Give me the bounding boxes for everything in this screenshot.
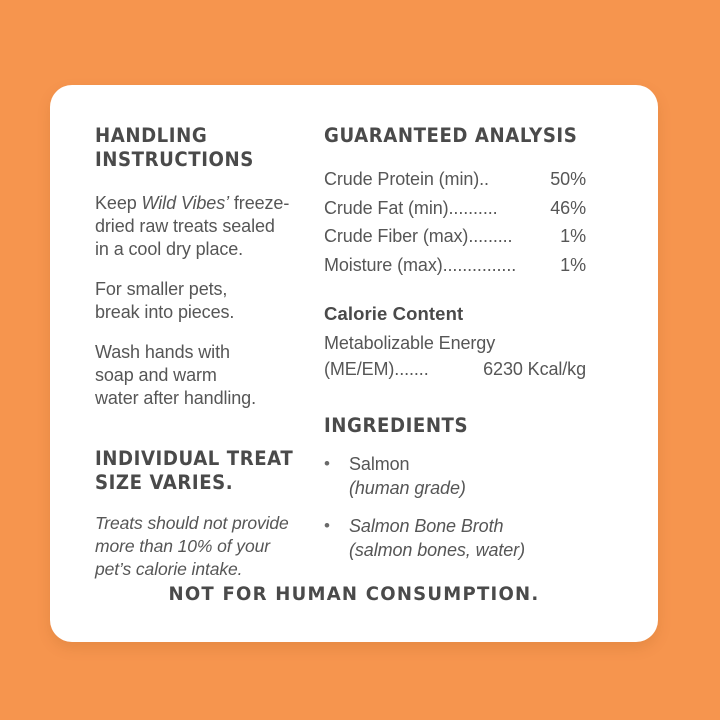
ingredient-name: Salmon [349,454,409,474]
bullet-icon: • [324,514,349,562]
analysis-label: Crude Fat (min) [324,194,449,223]
treat-size-note: Treats should not provide more than 10% … [95,512,318,581]
handling-paragraph-storage: Keep Wild Vibes’ freeze- dried raw treat… [95,192,318,261]
right-column: GUARANTEED ANALYSIS Crude Protein (min) … [318,124,658,581]
not-for-human-consumption-warning: NOT FOR HUMAN CONSUMPTION. [65,583,643,605]
dot-leader: .......... [449,194,551,223]
left-column: HANDLING INSTRUCTIONS Keep Wild Vibes’ f… [50,124,318,581]
analysis-row: Crude Fat (min) .......... 46% [324,194,586,223]
analysis-label: Moisture (max) [324,251,443,280]
ingredient-text: Salmon Bone Broth(salmon bones, water) [349,514,525,562]
metabolizable-energy-row: (ME/EM) ....... 6230 Kcal/kg [324,356,586,382]
analysis-value: 1% [560,222,586,251]
spacer [95,324,318,341]
dot-leader: ............... [443,251,561,280]
ingredient-text: Salmon(human grade) [349,452,466,500]
bullet-icon: • [324,452,349,500]
handling-paragraph-smaller-pets: For smaller pets, break into pieces. [95,278,318,324]
guaranteed-analysis-heading: GUARANTEED ANALYSIS [324,124,635,148]
ingredients-heading: INGREDIENTS [324,414,635,438]
me-em-value: 6230 Kcal/kg [483,356,586,382]
treat-size-heading: INDIVIDUAL TREAT SIZE VARIES. [95,447,302,495]
spacer [324,382,658,414]
handling-paragraph-wash-hands: Wash hands with soap and warm water afte… [95,341,318,410]
me-em-label: (ME/EM) [324,356,394,382]
analysis-row: Crude Protein (min) .. 50% [324,165,586,194]
ingredient-detail: (human grade) [349,478,466,498]
spacer [95,172,318,192]
analysis-label: Crude Fiber (max) [324,222,468,251]
calorie-content-body: Metabolizable Energy (ME/EM) ....... 623… [324,330,658,382]
ingredient-item: • Salmon(human grade) [324,452,658,500]
analysis-label: Crude Protein (min) [324,165,479,194]
guaranteed-analysis-list: Crude Protein (min) .. 50% Crude Fat (mi… [324,165,658,279]
dot-leader: ....... [394,356,483,382]
storage-text-before: Keep [95,193,142,213]
dot-leader: ......... [468,222,560,251]
analysis-value: 46% [550,194,586,223]
calorie-content-block: Calorie Content Metabolizable Energy (ME… [324,302,658,382]
analysis-value: 50% [550,165,586,194]
metabolizable-energy-line: Metabolizable Energy [324,330,658,356]
ingredients-list: • Salmon(human grade) • Salmon Bone Brot… [324,452,658,562]
product-label-card: HANDLING INSTRUCTIONS Keep Wild Vibes’ f… [50,85,658,642]
ingredient-item: • Salmon Bone Broth(salmon bones, water) [324,514,658,562]
calorie-content-heading: Calorie Content [324,302,658,326]
ingredient-name: Salmon Bone Broth [349,516,503,536]
label-columns: HANDLING INSTRUCTIONS Keep Wild Vibes’ f… [50,85,658,581]
spacer [95,495,318,512]
analysis-value: 1% [560,251,586,280]
dot-leader: .. [479,165,550,194]
brand-name-emphasis: Wild Vibes’ [142,193,229,213]
spacer [95,261,318,278]
handling-instructions-heading: HANDLING INSTRUCTIONS [95,124,302,172]
ingredient-detail: (salmon bones, water) [349,540,525,560]
spacer [95,410,318,447]
analysis-row: Moisture (max) ............... 1% [324,251,586,280]
analysis-row: Crude Fiber (max) ......... 1% [324,222,586,251]
